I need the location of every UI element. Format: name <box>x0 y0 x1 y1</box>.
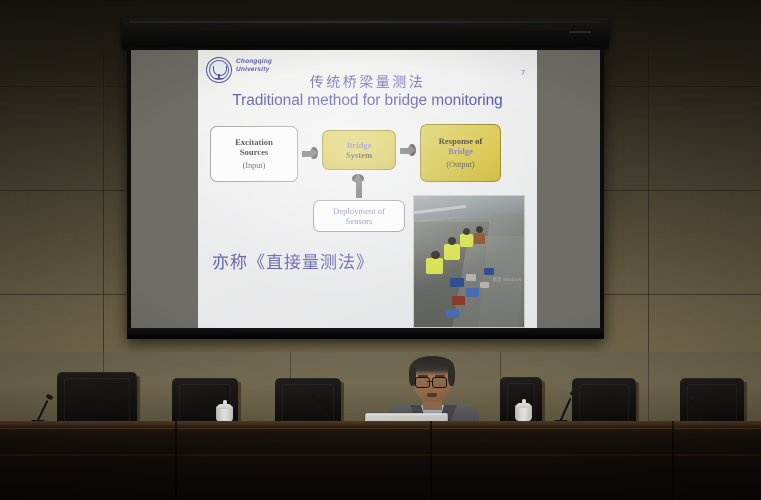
gooseneck-microphone[interactable] <box>700 398 702 422</box>
photo-watermark: 激活 Windows <box>492 277 521 283</box>
chair <box>57 372 137 427</box>
projector-screen-housing <box>122 18 609 49</box>
arrow-sensors-to-bridge-icon <box>352 174 365 198</box>
diagram-box-deployment-of-sensors: Deployment of Sensors <box>313 200 405 232</box>
field-inspection-photo: 激活 Windows <box>413 195 525 328</box>
letterbox-right <box>537 50 600 328</box>
gooseneck-microphone[interactable] <box>330 396 332 422</box>
desk-seam <box>430 421 432 500</box>
projection-screen: Chongqing University 7 传统桥梁量测法 Tradition… <box>127 47 604 339</box>
teacup <box>216 400 233 422</box>
teacup <box>515 399 532 421</box>
gooseneck-microphone[interactable] <box>36 398 38 422</box>
presentation-scene: Chongqing University 7 传统桥梁量测法 Tradition… <box>0 0 761 500</box>
slide-footnote-chinese: 亦称《直接量测法》 <box>212 248 374 273</box>
diagram-box-response-of-bridge: Response of Bridge (Output) <box>420 124 501 182</box>
panel-desk <box>0 421 761 500</box>
diagram-box-bridge-system: Bridge System <box>322 130 396 170</box>
wall-seam <box>648 0 649 352</box>
desk-seam <box>672 421 674 500</box>
desk-seam <box>175 421 177 500</box>
wall-panel-line <box>648 352 649 422</box>
presenter-glasses <box>415 377 430 388</box>
arrow-excitation-to-bridge-icon <box>302 147 318 160</box>
powerpoint-slide: Chongqing University 7 传统桥梁量测法 Tradition… <box>198 50 537 328</box>
chair <box>572 378 636 427</box>
screen-bottom-bar <box>127 328 604 339</box>
arrow-bridge-to-response-icon <box>400 144 416 157</box>
slide-title-chinese: 传统桥梁量测法 <box>198 72 537 92</box>
housing-label <box>569 31 591 33</box>
diagram-box-excitation-sources: Excitation Sources (Input) <box>210 126 298 182</box>
gooseneck-microphone[interactable] <box>559 396 561 422</box>
housing-highlight <box>130 21 601 23</box>
letterbox-left <box>131 50 198 328</box>
slide-title-english: Traditional method for bridge monitoring <box>198 92 537 110</box>
wall-seam <box>103 0 104 352</box>
chair <box>680 378 744 427</box>
screen-surface: Chongqing University 7 传统桥梁量测法 Tradition… <box>131 50 600 328</box>
